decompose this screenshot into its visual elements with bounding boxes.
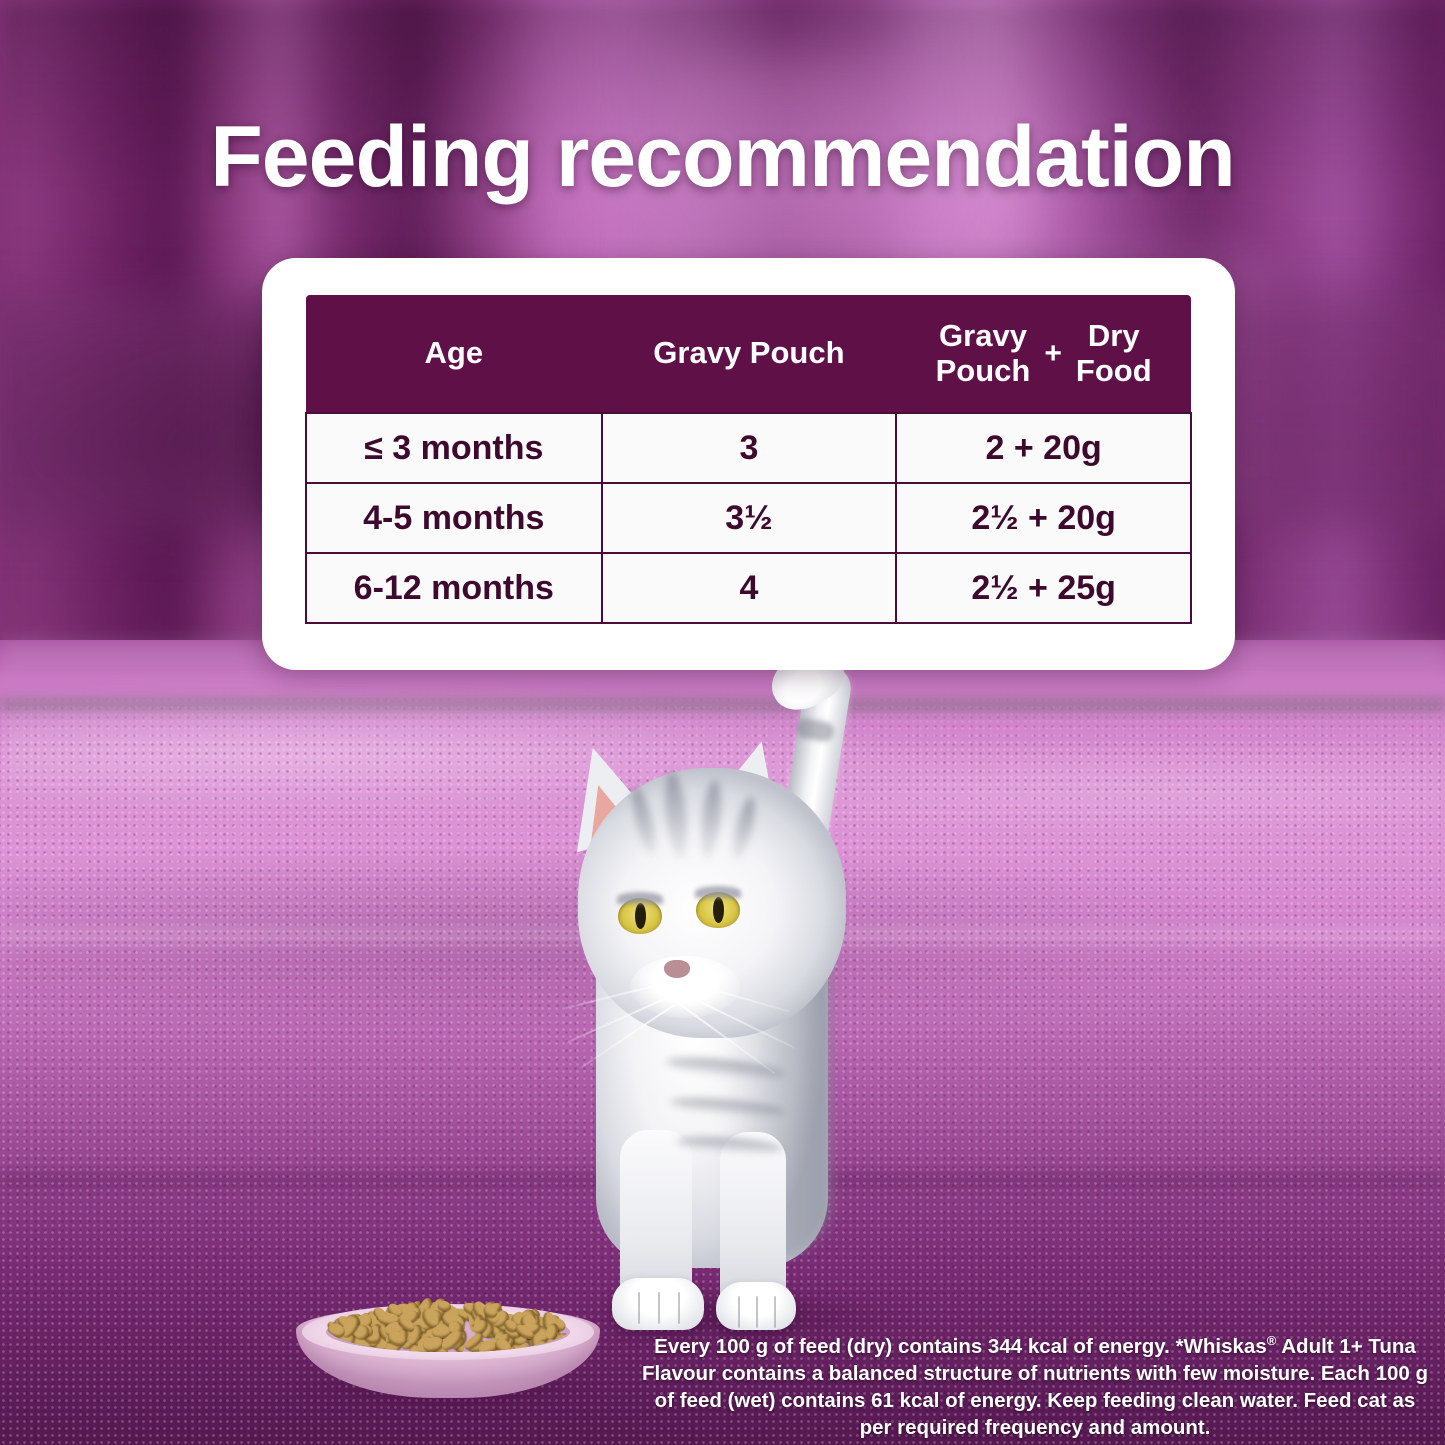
- cell-age: 6-12 months: [306, 553, 602, 623]
- cell-gravy-pouch: 3½: [602, 483, 897, 553]
- page-title: Feeding recommendation: [0, 108, 1445, 207]
- cell-age: ≤ 3 months: [306, 413, 602, 483]
- kitten-front-left-paw: [612, 1278, 704, 1330]
- plus-symbol: +: [1044, 337, 1062, 371]
- table-row: ≤ 3 months 3 2 + 20g: [306, 413, 1191, 483]
- combo-header-right: Dry Food: [1076, 319, 1152, 387]
- feeding-table-card: Age Gravy Pouch Gravy Pouch + Dry Food: [262, 258, 1235, 670]
- table-header: Age Gravy Pouch Gravy Pouch + Dry Food: [306, 295, 1191, 413]
- combo-header-gravy: Gravy: [936, 319, 1031, 353]
- table-body: ≤ 3 months 3 2 + 20g 4-5 months 3½ 2½ + …: [306, 413, 1191, 623]
- combo-header-pouch: Pouch: [936, 354, 1031, 388]
- cell-combo: 2½ + 25g: [896, 553, 1191, 623]
- column-header-gravy-pouch-plus-dry-food: Gravy Pouch + Dry Food: [896, 295, 1191, 413]
- kitten-nose: [664, 960, 690, 978]
- cell-age: 4-5 months: [306, 483, 602, 553]
- kitten-illustration: [470, 660, 960, 1350]
- cell-gravy-pouch: 4: [602, 553, 897, 623]
- food-bowl: [296, 1292, 600, 1412]
- kitten-front-right-paw: [716, 1282, 796, 1330]
- combo-header-dry: Dry: [1076, 319, 1152, 353]
- footnote-part-1: Every 100 g of feed (dry) contains 344 k…: [654, 1335, 1267, 1358]
- table-row: 6-12 months 4 2½ + 25g: [306, 553, 1191, 623]
- kibble-pile: [326, 1296, 572, 1352]
- table-row: 4-5 months 3½ 2½ + 20g: [306, 483, 1191, 553]
- registered-trademark-symbol: ®: [1267, 1333, 1277, 1348]
- product-feeding-scene: Feeding recommendation Age Gravy Pouch G…: [0, 0, 1445, 1445]
- kitten-left-eyelid: [617, 892, 663, 904]
- combo-header-left: Gravy Pouch: [936, 319, 1031, 387]
- cell-combo: 2 + 20g: [896, 413, 1191, 483]
- cell-combo: 2½ + 20g: [896, 483, 1191, 553]
- kitten-right-eyelid: [695, 886, 741, 898]
- combo-header-food: Food: [1076, 354, 1152, 388]
- column-header-gravy-pouch: Gravy Pouch: [602, 295, 897, 413]
- table-header-row: Age Gravy Pouch Gravy Pouch + Dry Food: [306, 295, 1191, 413]
- column-header-age: Age: [306, 295, 602, 413]
- cell-gravy-pouch: 3: [602, 413, 897, 483]
- footnote-disclaimer: Every 100 g of feed (dry) contains 344 k…: [640, 1332, 1430, 1441]
- feeding-recommendation-table: Age Gravy Pouch Gravy Pouch + Dry Food: [305, 295, 1192, 624]
